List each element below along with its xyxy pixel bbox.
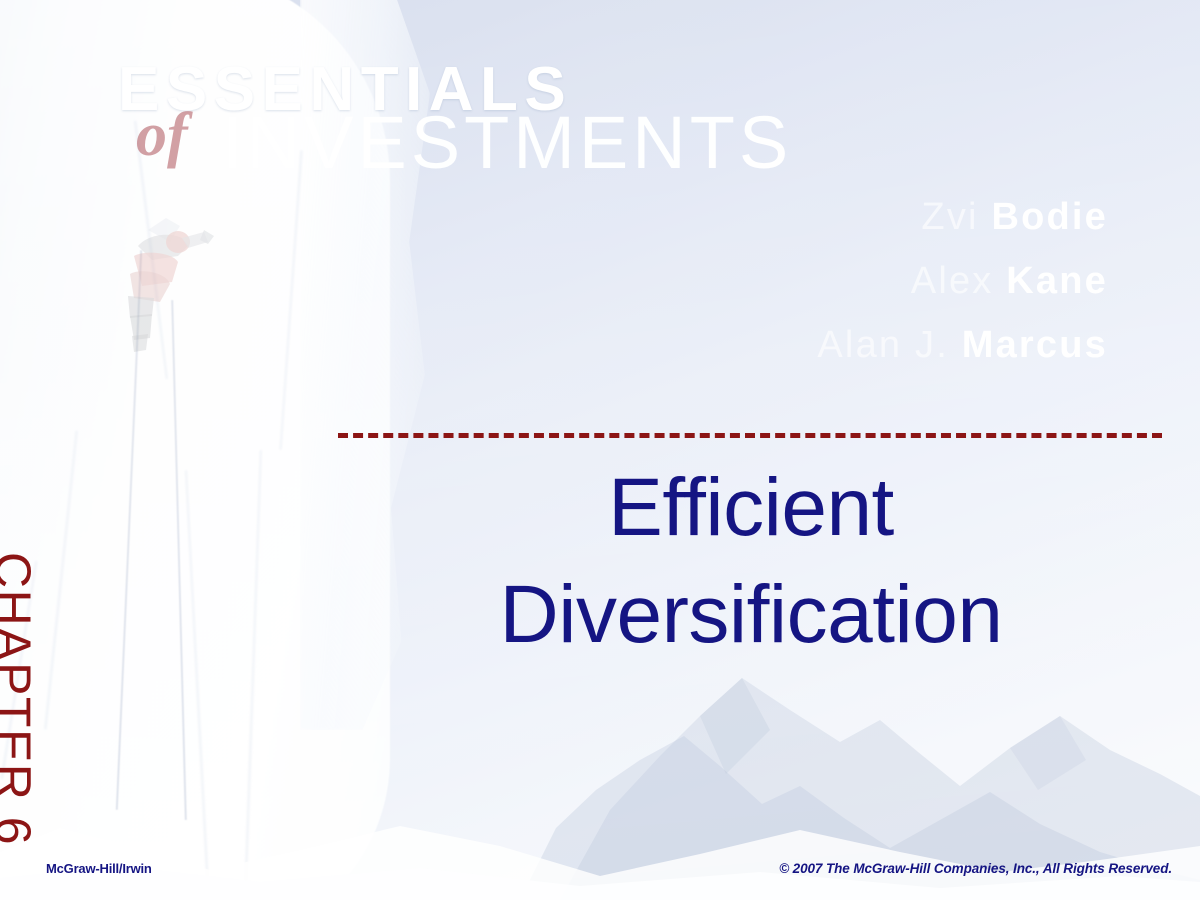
author-first-name: Alan J.: [817, 324, 961, 366]
author-last-name: Bodie: [991, 196, 1108, 238]
slide-title-line-2: Diversification: [340, 562, 1162, 669]
snow-texture-streak: [185, 470, 208, 890]
snow-texture-streak: [244, 450, 261, 900]
slide-title-line-1: Efficient: [340, 455, 1162, 562]
ice-climber-figure: [108, 212, 218, 362]
book-masthead: ESSENTIALS of INVESTMENTS: [0, 0, 1200, 200]
publisher-imprint: McGraw-Hill/Irwin: [46, 861, 152, 876]
slide-title: Efficient Diversification: [340, 455, 1162, 668]
author-first-name: Alex: [911, 260, 1006, 302]
author-alex-kane: Alex Kane: [817, 262, 1108, 300]
chapter-label: CHAPTER 6: [0, 552, 42, 846]
author-zvi-bodie: Zvi Bodie: [817, 198, 1108, 236]
climbing-rope: [171, 300, 187, 820]
book-title-of: of: [136, 104, 188, 166]
snow-texture-streak: [44, 431, 77, 730]
copyright-notice: © 2007 The McGraw-Hill Companies, Inc., …: [779, 861, 1172, 876]
author-list: Zvi Bodie Alex Kane Alan J. Marcus: [817, 198, 1108, 390]
title-divider-rule: [338, 433, 1162, 438]
author-first-name: Zvi: [921, 196, 991, 238]
author-alan-j-marcus: Alan J. Marcus: [817, 326, 1108, 364]
book-title-investments: INVESTMENTS: [222, 106, 792, 180]
presentation-slide: ESSENTIALS of INVESTMENTS Zvi Bodie Alex…: [0, 0, 1200, 900]
author-last-name: Marcus: [962, 324, 1108, 366]
climbing-rope: [116, 250, 142, 810]
author-last-name: Kane: [1006, 260, 1108, 302]
